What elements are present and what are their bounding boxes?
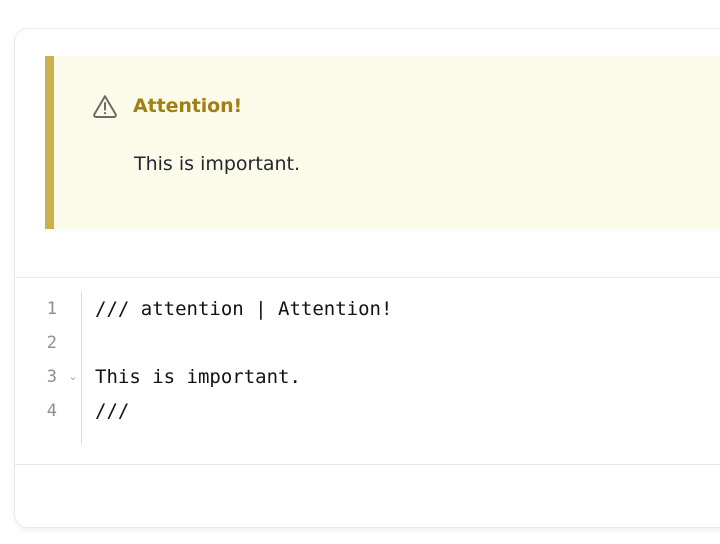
- code-line: [95, 326, 720, 360]
- card-footer-spacer: [15, 465, 720, 527]
- warning-triangle-icon: [91, 92, 119, 120]
- code-line: This is important.: [95, 360, 720, 394]
- source-code-pane[interactable]: 1 2 3 4 ⌄ /// attention | Attention! Thi…: [15, 278, 720, 465]
- line-number: 2: [17, 326, 57, 360]
- line-number-gutter: 1 2 3 4 ⌄: [15, 292, 82, 444]
- admonition-title-row: Attention!: [91, 92, 242, 120]
- code-line: /// attention | Attention!: [95, 292, 720, 326]
- admonition-preview-card: Attention! This is important. 1 2 3 4 ⌄ …: [14, 28, 720, 528]
- line-number: 3: [17, 360, 57, 394]
- rendered-preview-pane: Attention! This is important.: [15, 29, 720, 278]
- code-lines: /// attention | Attention! This is impor…: [95, 292, 720, 428]
- code-fold-chevron-icon[interactable]: ⌄: [67, 360, 79, 394]
- admonition-title: Attention!: [133, 95, 242, 117]
- attention-admonition: Attention! This is important.: [45, 56, 720, 229]
- line-number: 4: [17, 394, 57, 428]
- admonition-body-text: This is important.: [134, 153, 300, 175]
- line-number: 1: [17, 292, 57, 326]
- code-line: ///: [95, 394, 720, 428]
